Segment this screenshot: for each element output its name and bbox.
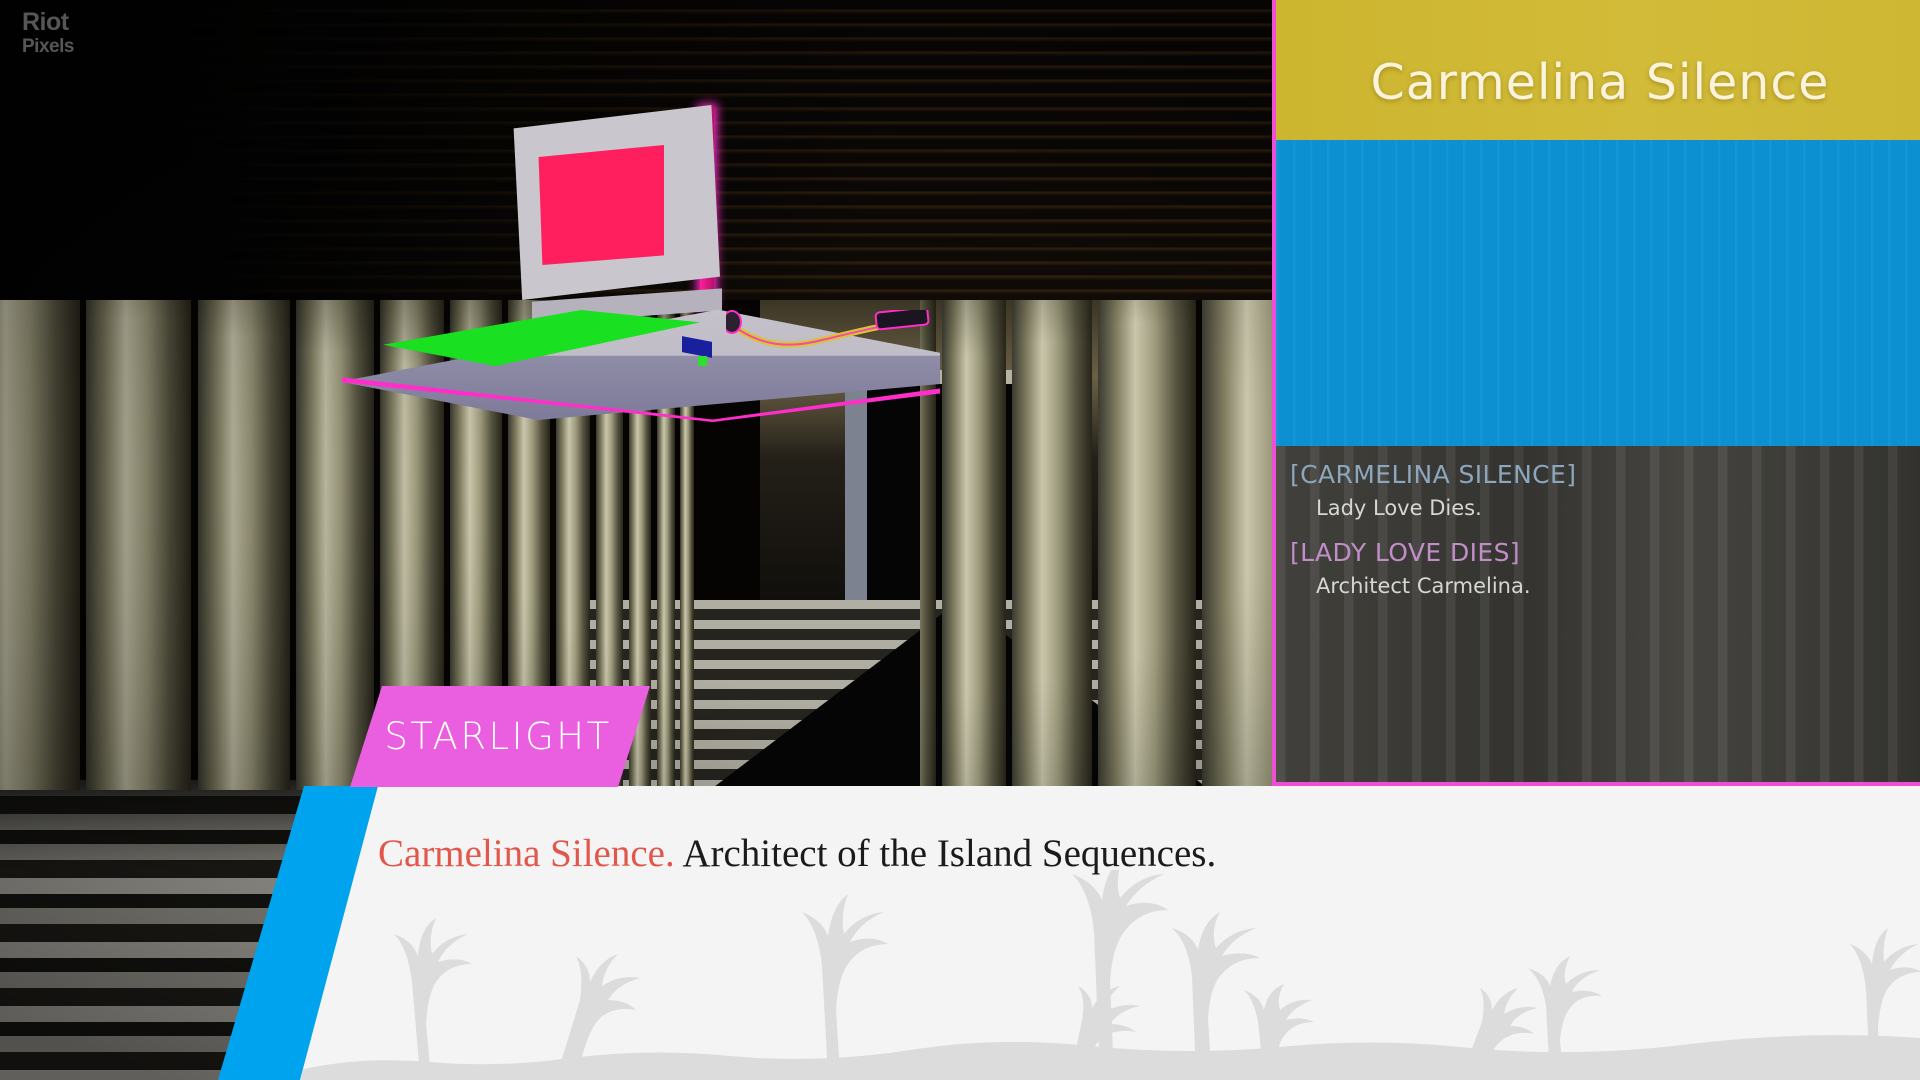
character-panel: Carmelina Silence [CARMELINA SILENCE] La… [1272, 0, 1920, 786]
log-entry: [CARMELINA SILENCE] Lady Love Dies. [1276, 460, 1920, 520]
dialogue-text: Carmelina Silence. Architect of the Isla… [378, 832, 1860, 877]
dialogue-log: [CARMELINA SILENCE] Lady Love Dies. [LAD… [1276, 446, 1920, 782]
log-speaker-label: [CARMELINA SILENCE] [1290, 460, 1920, 489]
character-name-bar: Carmelina Silence [1276, 0, 1920, 140]
watermark-line-1: Riot [22, 10, 74, 35]
watermark-line-2: Pixels [22, 37, 74, 56]
game-screen: Riot Pixels Carmelina Silence [CARMELINA… [0, 0, 1920, 1080]
character-portrait [1276, 140, 1920, 446]
laptop-screen [536, 145, 664, 265]
speaker-tag: STARLIGHT [350, 686, 650, 787]
laptop-port-green [698, 356, 707, 366]
riotpixels-watermark: Riot Pixels [22, 10, 74, 56]
laptop-cable [726, 310, 932, 360]
log-speaker-label: [LADY LOVE DIES] [1290, 538, 1920, 567]
dialogue-box[interactable]: Carmelina Silence. Architect of the Isla… [300, 786, 1920, 1080]
retro-laptop-object [340, 105, 940, 425]
log-entry: [LADY LOVE DIES] Architect Carmelina. [1276, 538, 1920, 598]
log-line-text: Architect Carmelina. [1290, 574, 1920, 598]
log-line-text: Lady Love Dies. [1290, 496, 1920, 520]
speaker-tag-label: STARLIGHT [384, 715, 611, 758]
dialogue-body-text: Architect of the Island Sequences. [682, 832, 1216, 875]
palm-tree-silhouettes [300, 870, 1920, 1080]
dialogue-name-prefix: Carmelina Silence. [378, 832, 675, 875]
character-name: Carmelina Silence [1371, 54, 1830, 111]
